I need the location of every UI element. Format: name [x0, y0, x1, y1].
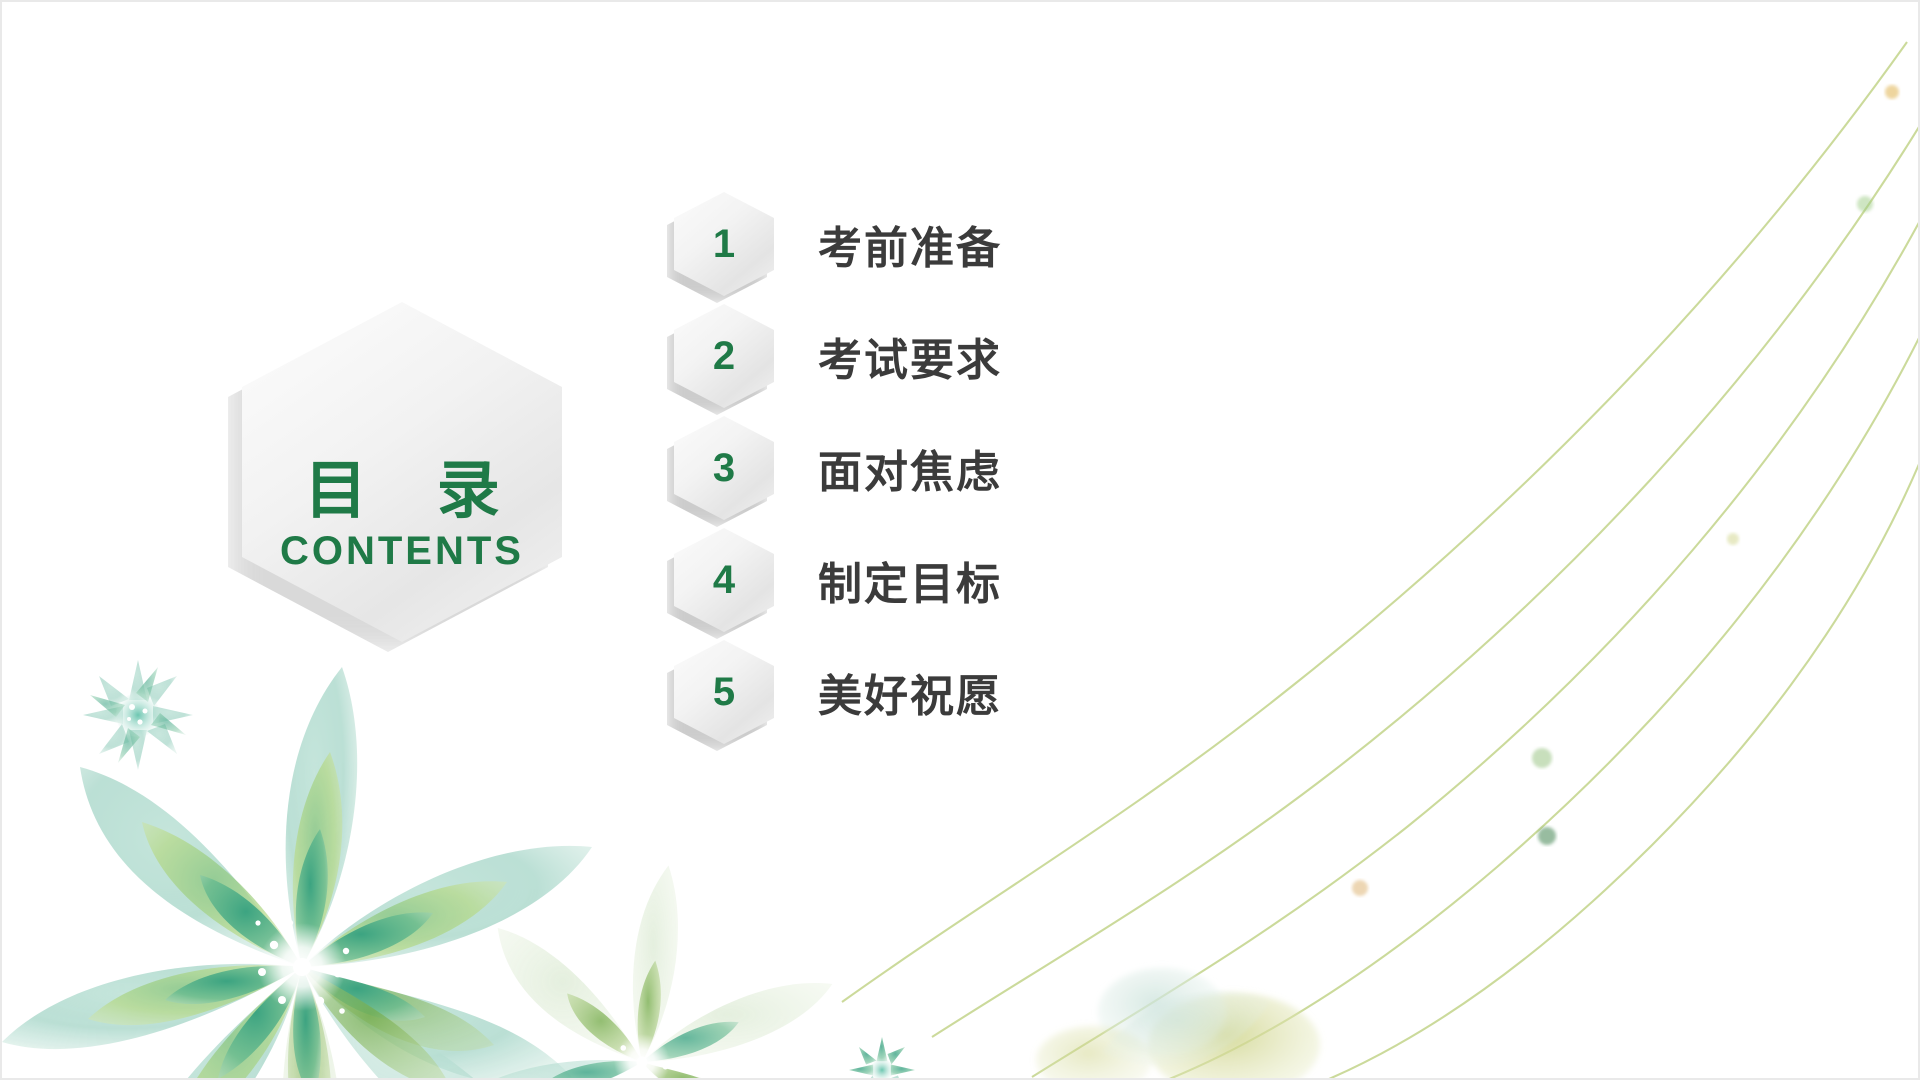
contents-badge-text: 目 录 CONTENTS [278, 460, 526, 571]
toc-number-hexagon-2: 2 [674, 304, 774, 408]
flower-inner-petals [165, 829, 452, 1080]
flower2-inner-petals [541, 961, 738, 1080]
contents-title-cn: 目 录 [278, 460, 526, 523]
contents-title-en: CONTENTS [278, 531, 526, 571]
sparkle-icon [1538, 827, 1556, 845]
tiny-flower-petals [849, 1037, 915, 1080]
flower2-center-sparkles [620, 1040, 668, 1080]
toc-label-1[interactable]: 考前准备 [818, 212, 1002, 276]
toc-label-3[interactable]: 面对焦虑 [818, 436, 1002, 500]
toc-number-hexagon-3: 3 [674, 416, 774, 520]
tiny-flower-decoration [849, 1037, 915, 1080]
sparkle-icon [1532, 748, 1552, 768]
toc-number-4: 4 [713, 560, 735, 600]
toc-number-2: 2 [713, 336, 735, 376]
toc-number-hexagon-4: 4 [674, 528, 774, 632]
sparkle-icon [1885, 85, 1899, 99]
flower2-outer-petals [445, 865, 832, 1080]
secondary-flower-decoration [445, 865, 832, 1080]
toc-item-1[interactable]: 1 考前准备 [674, 188, 1434, 300]
toc-item-4[interactable]: 4 制定目标 [674, 524, 1434, 636]
flower2-center-glow [614, 1034, 670, 1080]
flower-outer-petals [2, 667, 592, 1080]
flower-center-glow [258, 923, 346, 1011]
toc-list: 1 考前准备 2 考试要求 3 面对焦虑 [674, 188, 1434, 748]
watercolor-blobs-group [1036, 968, 1320, 1080]
toc-number-5: 5 [713, 672, 735, 712]
toc-item-3[interactable]: 3 面对焦虑 [674, 412, 1434, 524]
sparkle-icon [1727, 533, 1739, 545]
small-flower-petals [83, 660, 193, 770]
flower-center-sparkles [255, 920, 349, 1014]
toc-number-hexagon-1: 1 [674, 192, 774, 296]
small-flower-decoration [83, 660, 193, 770]
slide-canvas: 目 录 CONTENTS 1 考前准备 2 考试要求 [0, 0, 1920, 1080]
toc-label-5[interactable]: 美好祝愿 [818, 660, 1002, 724]
sparkle-icon [1857, 196, 1873, 212]
toc-number-1: 1 [713, 224, 735, 264]
toc-number-hexagon-5: 5 [674, 640, 774, 744]
toc-number-3: 3 [713, 448, 735, 488]
contents-badge: 目 录 CONTENTS [242, 302, 562, 642]
sparkle-accents-group [1352, 85, 1899, 896]
toc-item-5[interactable]: 5 美好祝愿 [674, 636, 1434, 748]
main-flower-decoration [2, 667, 592, 1080]
flower-mid-petals [88, 752, 507, 1080]
small-flower-sparkles [127, 704, 148, 725]
leaf-decoration [1102, 990, 1270, 1065]
sparkle-icon [1352, 880, 1368, 896]
toc-item-2[interactable]: 2 考试要求 [674, 300, 1434, 412]
toc-label-2[interactable]: 考试要求 [818, 324, 1002, 388]
toc-label-4[interactable]: 制定目标 [818, 548, 1002, 612]
